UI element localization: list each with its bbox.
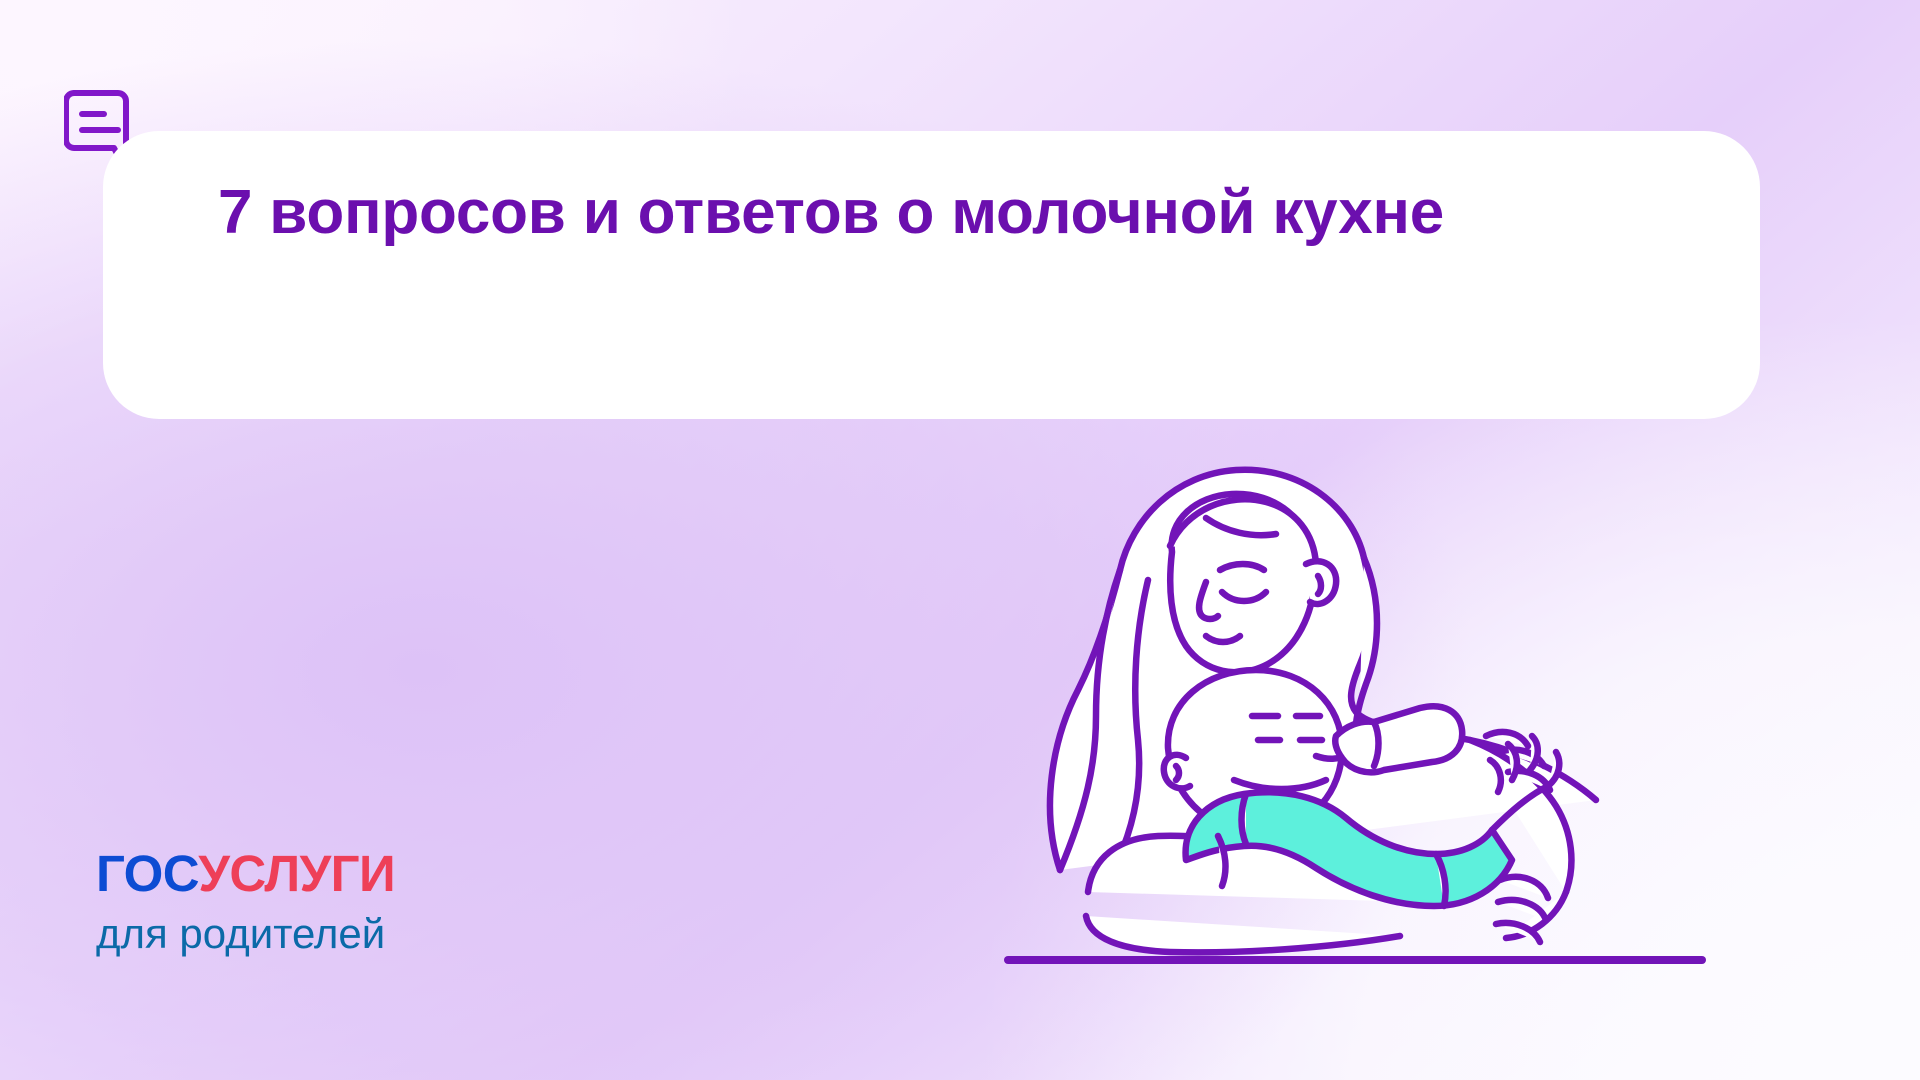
logo-subtitle: для родителей <box>96 912 516 956</box>
page-title: 7 вопросов и ответов о молочной кухне <box>218 170 1618 256</box>
logo-word-uslugi: УСЛУГИ <box>198 845 395 902</box>
logo-wordmark: ГОСУСЛУГИ <box>96 848 516 900</box>
mother-feeding-baby-illustration <box>1000 440 1720 1000</box>
gosuslugi-logo[interactable]: ГОСУСЛУГИ для родителей <box>96 848 516 956</box>
logo-word-gos: ГОС <box>96 845 198 902</box>
banner-root: 7 вопросов и ответов о молочной кухне ГО… <box>0 0 1920 1080</box>
